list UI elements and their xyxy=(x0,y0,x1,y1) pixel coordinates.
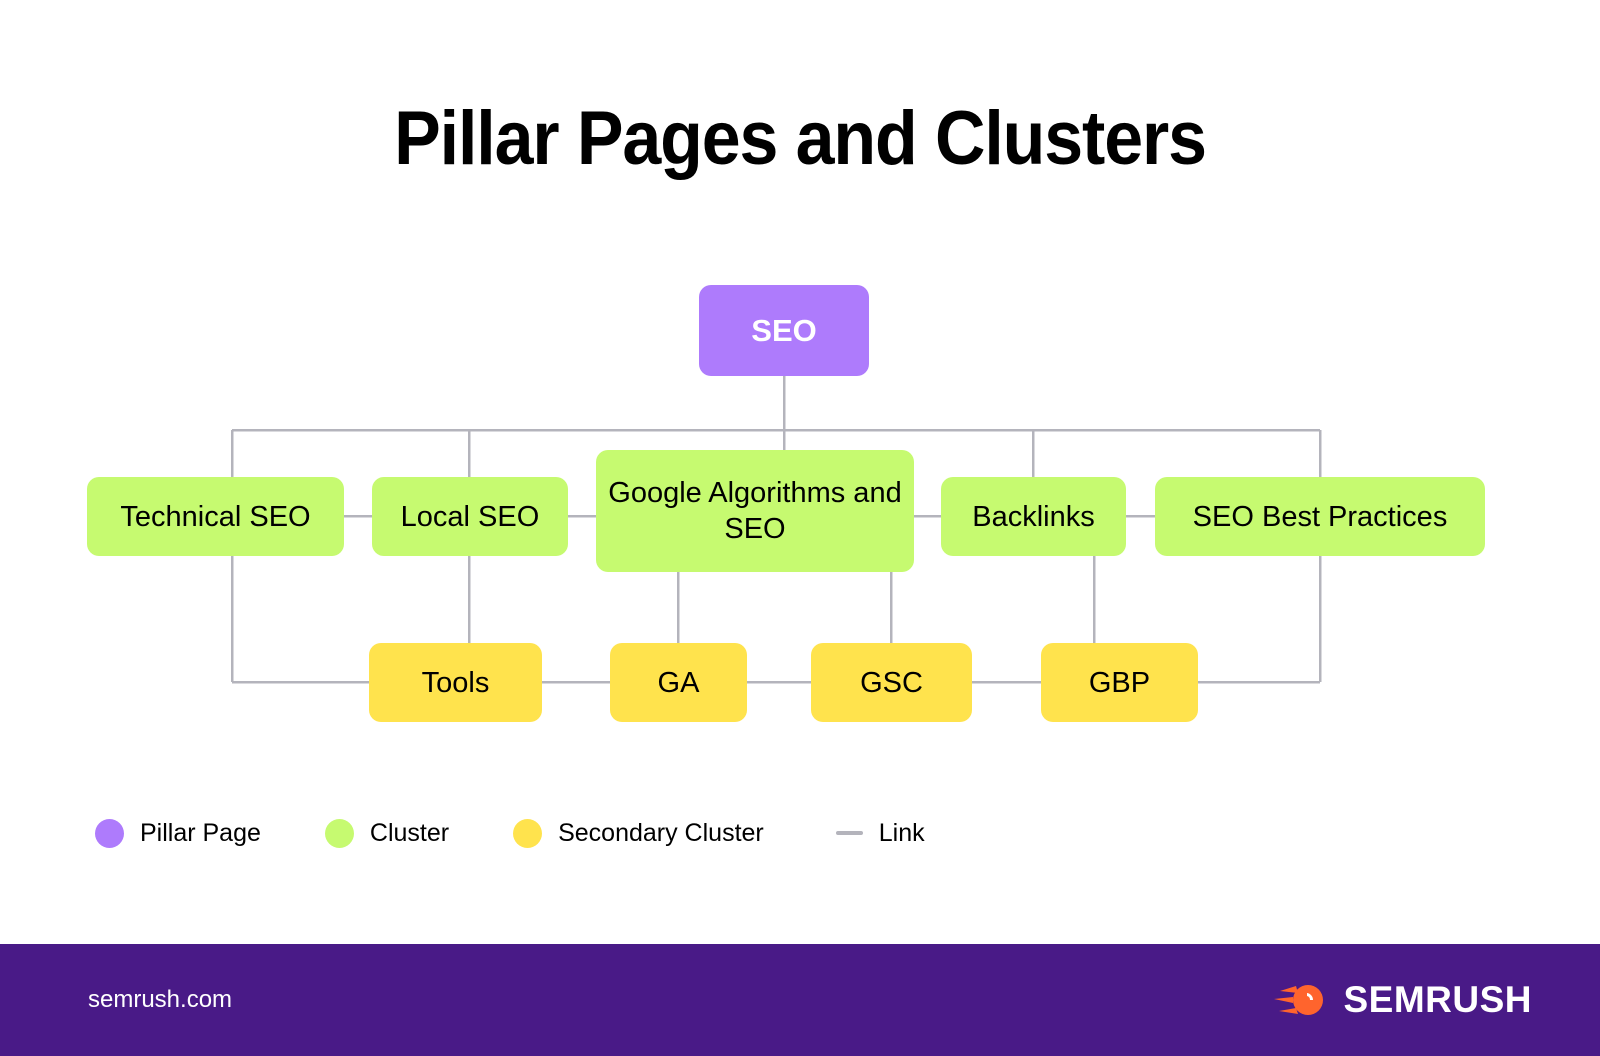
node-tools[interactable]: Tools xyxy=(369,643,542,722)
node-google-algorithms-and-seo-label: Google Algorithms and SEO xyxy=(606,475,904,547)
node-local-seo-label: Local SEO xyxy=(401,499,540,535)
secondary-cluster-swatch-icon xyxy=(513,819,542,848)
legend-label-secondary-cluster: Secondary Cluster xyxy=(558,818,764,848)
node-google-algorithms-and-seo[interactable]: Google Algorithms and SEO xyxy=(596,450,914,572)
node-backlinks-label: Backlinks xyxy=(972,499,1095,535)
node-seo-best-practices[interactable]: SEO Best Practices xyxy=(1155,477,1485,556)
legend-label-pillar-page: Pillar Page xyxy=(140,818,261,848)
node-local-seo[interactable]: Local SEO xyxy=(372,477,568,556)
pillar-cluster-diagram: SEO Technical SEO Local SEO Google Algor… xyxy=(0,0,1600,1056)
semrush-logo: SEMRUSH xyxy=(1274,980,1532,1020)
infographic-page: Pillar Pages and Clusters xyxy=(0,0,1600,1056)
footer-url[interactable]: semrush.com xyxy=(88,986,232,1014)
node-ga-label: GA xyxy=(658,665,700,701)
legend-item-cluster: Cluster xyxy=(325,812,449,854)
cluster-swatch-icon xyxy=(325,819,354,848)
semrush-logo-text: SEMRUSH xyxy=(1343,980,1532,1020)
node-technical-seo-label: Technical SEO xyxy=(120,499,310,535)
legend: Pillar Page Cluster Secondary Cluster Li… xyxy=(95,812,925,854)
node-backlinks[interactable]: Backlinks xyxy=(941,477,1126,556)
node-seo-label: SEO xyxy=(751,313,816,349)
node-ga[interactable]: GA xyxy=(610,643,747,722)
legend-item-pillar-page: Pillar Page xyxy=(95,812,261,854)
semrush-comet-icon xyxy=(1274,980,1328,1020)
footer-bar: semrush.com SEMRUSH xyxy=(0,944,1600,1056)
legend-label-link: Link xyxy=(879,818,925,848)
node-gbp-label: GBP xyxy=(1089,665,1150,701)
node-gsc[interactable]: GSC xyxy=(811,643,972,722)
legend-item-link: Link xyxy=(836,812,925,854)
node-tools-label: Tools xyxy=(422,665,490,701)
pillar-page-swatch-icon xyxy=(95,819,124,848)
node-seo[interactable]: SEO xyxy=(699,285,869,376)
node-technical-seo[interactable]: Technical SEO xyxy=(87,477,344,556)
legend-label-cluster: Cluster xyxy=(370,818,449,848)
node-seo-best-practices-label: SEO Best Practices xyxy=(1193,499,1448,535)
legend-item-secondary-cluster: Secondary Cluster xyxy=(513,812,764,854)
link-dash-icon xyxy=(836,831,863,835)
node-gsc-label: GSC xyxy=(860,665,923,701)
node-gbp[interactable]: GBP xyxy=(1041,643,1198,722)
